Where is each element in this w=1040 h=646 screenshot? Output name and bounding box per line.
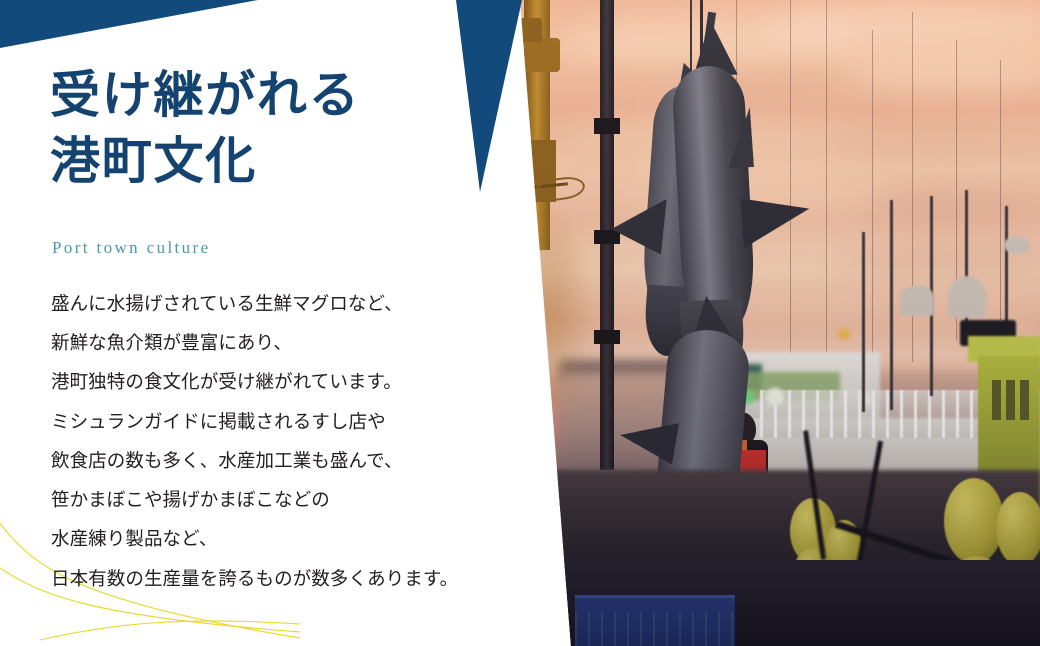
page-subtitle: Port town culture xyxy=(52,238,211,258)
text-column: 受け継がれる 港町文化 Port town culture 盛んに水揚げされてい… xyxy=(0,0,540,646)
body-copy: 盛んに水揚げされている生鮮マグロなど、 新鮮な魚介類が豊富にあり、 港町独特の食… xyxy=(51,284,521,598)
banner-stage: 受け継がれる 港町文化 Port town culture 盛んに水揚げされてい… xyxy=(0,0,1040,646)
page-title: 受け継がれる 港町文化 xyxy=(50,62,500,194)
